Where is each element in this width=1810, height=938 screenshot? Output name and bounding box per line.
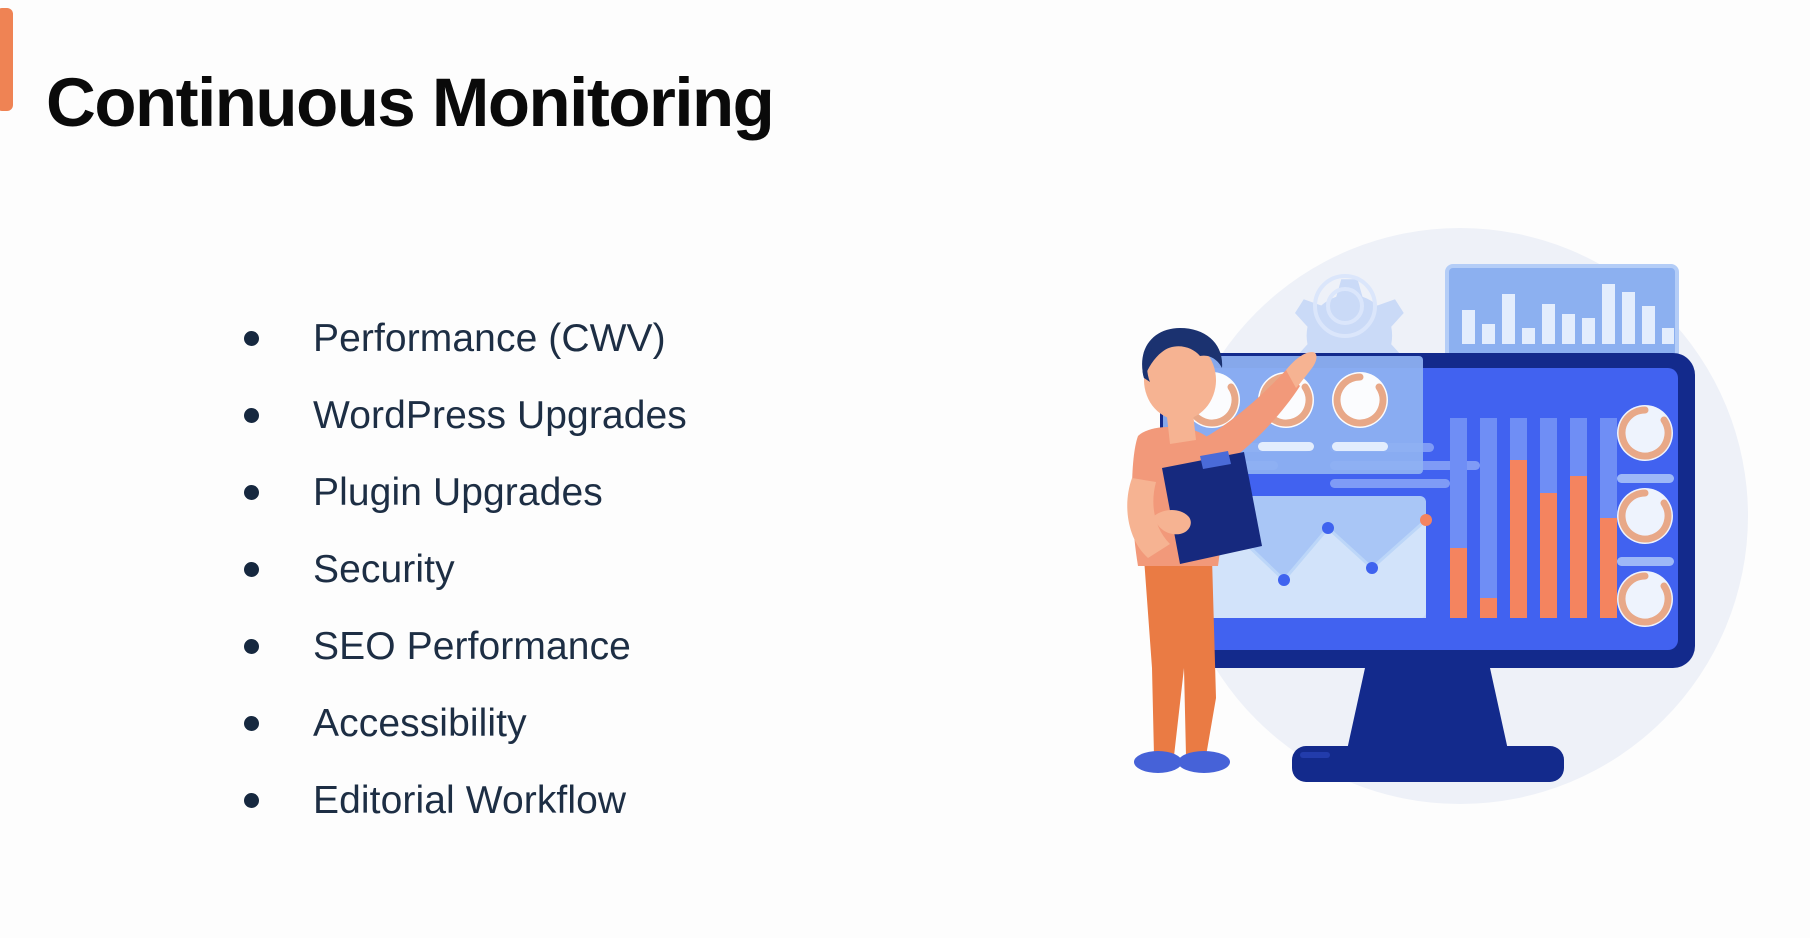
list-item: WordPress Upgrades — [244, 377, 687, 454]
bullet-dot-icon — [244, 562, 259, 577]
bullet-dot-icon — [244, 485, 259, 500]
person-shoe-left — [1134, 751, 1182, 773]
list-item-label: Editorial Workflow — [313, 779, 626, 823]
list-item: Security — [244, 531, 687, 608]
monitor-neck — [1347, 668, 1508, 750]
bullet-dot-icon — [244, 793, 259, 808]
list-item-label: Security — [313, 548, 455, 592]
person-shoe-right — [1178, 751, 1230, 773]
list-item: Plugin Upgrades — [244, 454, 687, 531]
list-item: Accessibility — [244, 685, 687, 762]
list-item-label: Performance (CWV) — [313, 317, 666, 361]
list-item-label: Plugin Upgrades — [313, 471, 603, 515]
bar-chart-card — [1447, 266, 1677, 359]
person-pants — [1144, 558, 1216, 756]
page-title: Continuous Monitoring — [46, 68, 773, 137]
bullet-dot-icon — [244, 716, 259, 731]
bullet-dot-icon — [244, 639, 259, 654]
slide-root: Continuous Monitoring Performance (CWV) … — [0, 0, 1810, 938]
monitor-base — [1292, 746, 1564, 782]
clipboard-icon — [1162, 451, 1262, 564]
bullet-dot-icon — [244, 331, 259, 346]
feature-bullet-list: Performance (CWV) WordPress Upgrades Plu… — [244, 300, 687, 839]
list-item: Editorial Workflow — [244, 762, 687, 839]
list-item-label: SEO Performance — [313, 625, 631, 669]
analytics-dashboard-illustration — [1100, 228, 1800, 848]
accent-bar — [0, 8, 13, 111]
list-item: Performance (CWV) — [244, 300, 687, 377]
list-item: SEO Performance — [244, 608, 687, 685]
screen-side-gauges — [1617, 405, 1674, 627]
list-item-label: Accessibility — [313, 702, 527, 746]
list-item-label: WordPress Upgrades — [313, 394, 687, 438]
bullet-dot-icon — [244, 408, 259, 423]
